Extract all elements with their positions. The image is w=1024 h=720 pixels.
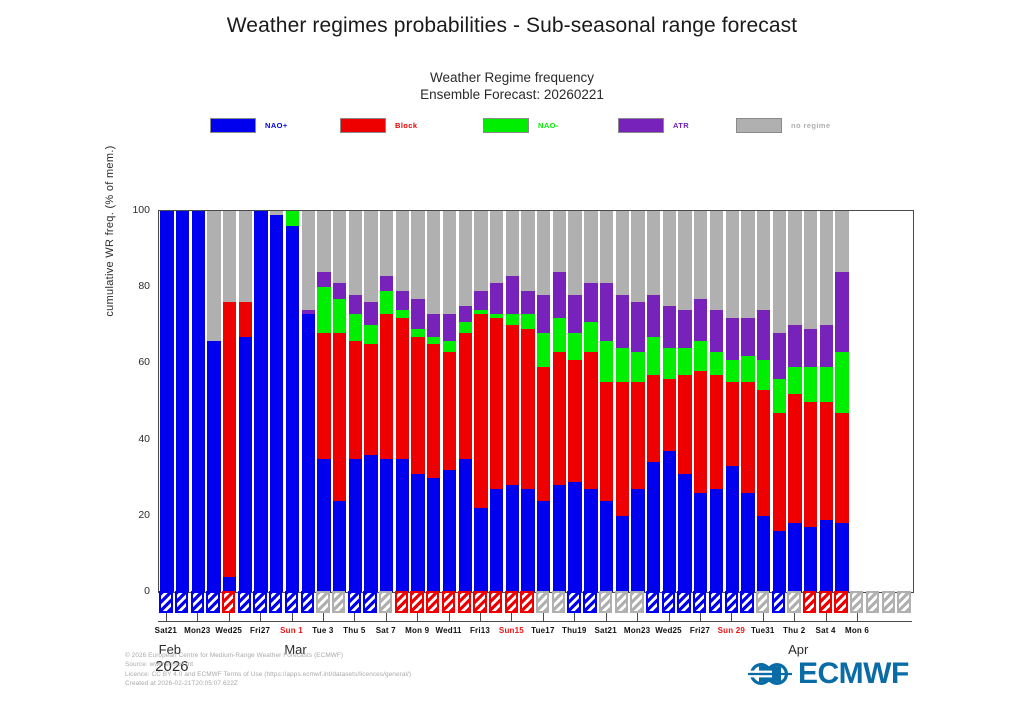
bar-column[interactable] [379,211,395,592]
regime-strip-cell[interactable] [551,591,567,613]
regime-hatch-block [473,591,486,613]
bar-stack [741,211,754,592]
bar-segment-block [804,402,817,528]
regime-hatch-nao+ [725,591,738,613]
bar-column[interactable] [253,211,269,592]
x-axis-tick-mark [197,613,198,621]
chart-title: Weather Regime frequency [0,70,1024,86]
x-axis-tick-mark [229,613,230,621]
bar-segment-atr [459,306,472,321]
x-axis-tick-mark [386,613,387,621]
bar-stack [207,211,220,592]
bar-stack [694,211,707,592]
legend-label-atr: ATR [673,121,689,130]
regime-strip-cell[interactable] [818,591,834,613]
page-title: Weather regimes probabilities - Sub-seas… [0,14,1024,38]
bar-segment-no_regime [239,211,252,302]
bar-segment-atr [396,291,409,310]
x-axis-date-label: Fri27 [690,626,710,635]
bar-segment-nao_plus [600,501,613,592]
bar-stack [568,211,581,592]
regime-hatch-nao+ [269,591,282,613]
bar-column[interactable] [316,211,332,592]
footer-line-source: Source: www.ecmwf.int [125,660,645,669]
bar-stack [333,211,346,592]
bar-column[interactable] [285,211,301,592]
bar-segment-nao_minus [349,314,362,341]
bar-segment-block [773,413,786,531]
regime-strip-cell[interactable] [692,591,708,613]
regime-hatch-nao+ [238,591,251,613]
bar-segment-block [757,390,770,516]
bar-segment-nao_minus [631,352,644,382]
bar-column[interactable] [567,211,583,592]
bar-column[interactable] [442,211,458,592]
x-axis-tick-mark [731,613,732,621]
x-axis-date-label: Thu19 [562,626,587,635]
bar-column[interactable] [897,211,913,592]
bar-stack [474,211,487,592]
bar-stack [192,211,205,592]
x-axis-tick-mark [354,613,355,621]
bar-segment-block [663,379,676,451]
bar-segment-nao_plus [741,493,754,592]
regime-hatch-block [426,591,439,613]
bar-segment-nao_plus [568,482,581,592]
bar-segment-block [537,367,550,500]
regime-strip-cell[interactable] [613,591,629,613]
regime-strip-cell[interactable] [362,591,378,613]
bar-segment-nao_minus [506,314,519,325]
bar-column[interactable] [190,211,206,592]
bar-stack [804,211,817,592]
footer-line-created: Created at 2026-02-21T20:05:07.622Z [125,679,645,688]
bar-column[interactable] [771,211,787,592]
bar-column[interactable] [426,211,442,592]
bar-segment-atr [568,295,581,333]
x-axis-date-label: Wed25 [215,626,242,635]
regime-hatch-no-regime [787,591,800,613]
bar-stack [396,211,409,592]
x-axis-date-label: Mon 6 [845,626,869,635]
legend-item-nao_minus[interactable]: NAO- [483,118,559,133]
bar-segment-block [694,371,707,493]
bar-segment-nao_plus [302,314,315,592]
bar-column[interactable] [489,211,505,592]
bar-segment-atr [616,295,629,348]
regime-strip-cell[interactable] [770,591,786,613]
x-axis-date-label: Fri13 [470,626,490,635]
regime-strip-cell[interactable] [598,591,614,613]
bar-segment-block [600,382,613,500]
regime-strip-cell[interactable] [189,591,205,613]
regime-strip-cell[interactable] [284,591,300,613]
bar-column[interactable] [520,211,536,592]
bar-column[interactable] [473,211,489,592]
bar-segment-nao_minus [726,360,739,383]
bar-segment-nao_minus [820,367,833,401]
x-axis-tick-mark [166,613,167,621]
bar-segment-nao_plus [584,489,597,592]
regime-hatch-nao+ [740,591,753,613]
bar-column[interactable] [583,211,599,592]
bar-column[interactable] [206,211,222,592]
regime-strip-cell[interactable] [865,591,881,613]
bar-segment-block [317,333,330,459]
bar-column[interactable] [363,211,379,592]
bar-stack [254,211,267,592]
regime-strip-cell[interactable] [252,591,268,613]
bar-segment-block [427,344,440,477]
legend-swatch-atr [618,118,664,133]
bar-column[interactable] [834,211,850,592]
bar-stack [349,211,362,592]
bar-segment-nao_plus [443,470,456,592]
regime-strip-cell[interactable] [739,591,755,613]
bar-segment-nao_minus [411,329,424,337]
x-axis-tick-mark [826,613,827,621]
y-axis-tick-label: 40 [110,433,150,445]
regime-strip-cell[interactable] [205,591,221,613]
regime-hatch-no-regime [630,591,643,613]
x-axis-tick-mark [417,613,418,621]
bar-segment-nao_minus [364,325,377,344]
bar-segment-no_regime [380,211,393,276]
bar-column[interactable] [693,211,709,592]
chart-legend: NAO+BlockNAO-ATRno regime [158,115,914,135]
bar-segment-nao_minus [521,314,534,329]
bar-segment-nao_plus [537,501,550,592]
x-axis-date-label: Mon 9 [405,626,429,635]
bar-stack [317,211,330,592]
bar-segment-no_regime [207,211,220,341]
bar-segment-block [820,402,833,520]
regime-strip-cell[interactable] [880,591,896,613]
bar-column[interactable] [709,211,725,592]
bar-segment-nao_minus [600,341,613,383]
x-axis-tick-mark [669,613,670,621]
x-axis-date-label: Fri27 [250,626,270,635]
bar-segment-no_regime [396,211,409,291]
bar-segment-nao_plus [773,531,786,592]
bar-column[interactable] [787,211,803,592]
regime-strip-cell[interactable] [661,591,677,613]
bar-column[interactable] [238,211,254,592]
regime-hatch-block [520,591,533,613]
x-axis-date-label: Sun 29 [718,626,745,635]
regime-strip-cell[interactable] [425,591,441,613]
x-axis-tick-mark [700,613,701,621]
bar-column[interactable] [850,211,866,592]
legend-item-no_regime[interactable]: no regime [736,118,830,133]
regime-strip-cell[interactable] [582,591,598,613]
bar-stack [584,211,597,592]
bar-segment-block [411,337,424,474]
bar-segment-nao_plus [788,523,801,592]
bar-segment-block [553,352,566,485]
bar-column[interactable] [646,211,662,592]
bar-segment-nao_plus [254,211,267,592]
ecmwf-logo: ECMWF [748,657,909,691]
legend-item-block[interactable]: Block [340,118,417,133]
regime-hatch-nao+ [677,591,690,613]
regime-strip-cell[interactable] [221,591,237,613]
x-axis-tick-mark [574,613,575,621]
bar-column[interactable] [332,211,348,592]
regime-hatch-nao+ [693,591,706,613]
bar-column[interactable] [300,211,316,592]
bar-column[interactable] [159,211,175,592]
bar-column[interactable] [662,211,678,592]
bar-column[interactable] [803,211,819,592]
bar-stack [773,211,786,592]
bar-column[interactable] [175,211,191,592]
bar-segment-nao_minus [396,310,409,318]
regime-strip-cell[interactable] [629,591,645,613]
y-axis-tick-label: 80 [110,280,150,292]
regime-strip-cell[interactable] [472,591,488,613]
bar-segment-atr [333,283,346,298]
bar-segment-block [474,314,487,508]
regime-hatch-nao+ [175,591,188,613]
x-axis-tick-mark [260,613,261,621]
bar-stack [726,211,739,592]
bar-segment-nao_minus [443,341,456,352]
bar-segment-nao_plus [490,489,503,592]
regime-strip-cell[interactable] [174,591,190,613]
footer-credits: © 2026 European Centre for Medium-Range … [125,651,645,688]
bar-column[interactable] [599,211,615,592]
bar-segment-nao_minus [647,337,660,375]
bar-segment-atr [788,325,801,367]
x-axis-date-label: Tue 3 [312,626,333,635]
footer-line-copyright: © 2026 European Centre for Medium-Range … [125,651,645,660]
bar-stack [411,211,424,592]
regime-strip-cell[interactable] [645,591,661,613]
regime-hatch-no-regime [552,591,565,613]
bar-segment-nao_minus [710,352,723,375]
bar-column[interactable] [222,211,238,592]
regime-strip-cell[interactable] [708,591,724,613]
x-axis-date-label: Tue17 [531,626,555,635]
bar-segment-nao_plus [835,523,848,592]
legend-item-atr[interactable]: ATR [618,118,689,133]
regime-strip-cell[interactable] [786,591,802,613]
bar-segment-nao_plus [459,459,472,592]
bar-stack [427,211,440,592]
regime-strip-cell[interactable] [723,591,739,613]
bar-segment-nao_minus [835,352,848,413]
bar-segment-block [223,302,236,576]
bar-segment-nao_plus [663,451,676,592]
regime-strip-cell[interactable] [441,591,457,613]
regime-strip-cell[interactable] [503,591,519,613]
bar-stack [490,211,503,592]
bar-column[interactable] [457,211,473,592]
bar-segment-no_regime [804,211,817,329]
bar-segment-no_regime [663,211,676,306]
bar-segment-no_regime [302,211,315,310]
regime-strip-cell[interactable] [896,591,912,613]
bar-segment-block [710,375,723,489]
regime-hatch-no-regime [316,591,329,613]
bar-segment-nao_minus [333,299,346,333]
bar-series-container [159,211,913,592]
regime-strip-cell[interactable] [488,591,504,613]
bar-segment-no_regime [521,211,534,291]
bar-segment-nao_minus [694,341,707,371]
bar-segment-nao_minus [741,356,754,383]
bar-segment-atr [741,318,754,356]
regime-strip-cell[interactable] [535,591,551,613]
bar-column[interactable] [677,211,693,592]
x-axis-date-label: Sat 7 [376,626,396,635]
bar-segment-nao_plus [506,485,519,592]
bar-segment-no_regime [364,211,377,302]
x-axis-date-label: Mon23 [624,626,650,635]
bar-column[interactable] [756,211,772,592]
bar-column[interactable] [819,211,835,592]
bar-segment-nao_minus [788,367,801,394]
bar-stack [631,211,644,592]
bar-column[interactable] [410,211,426,592]
bar-column[interactable] [881,211,897,592]
legend-item-nao_plus[interactable]: NAO+ [210,118,288,133]
regime-hatch-block [395,591,408,613]
bar-segment-nao_plus [364,455,377,592]
x-axis-date-label: Sun15 [499,626,524,635]
bar-column[interactable] [740,211,756,592]
bar-segment-no_regime [568,211,581,295]
y-axis-tick-label: 60 [110,356,150,368]
x-axis-tick-mark [763,613,764,621]
month-label-apr: Apr [788,642,808,657]
bar-stack [835,211,848,592]
bar-segment-nao_plus [192,211,205,592]
bar-segment-atr [443,314,456,341]
bar-segment-no_regime [349,211,362,295]
bar-stack [223,211,236,592]
regime-strip-cell[interactable] [378,591,394,613]
bar-stack [286,211,299,592]
bar-column[interactable] [504,211,520,592]
bar-stack [883,211,896,592]
bar-stack [851,211,864,592]
x-axis-date-label: Wed25 [655,626,682,635]
regime-hatch-nao+ [646,591,659,613]
regime-hatch-nao+ [191,591,204,613]
regime-strip-cell[interactable] [519,591,535,613]
regime-strip-cell[interactable] [755,591,771,613]
regime-hatch-no-regime [615,591,628,613]
regime-hatch-block [442,591,455,613]
regime-strip-cell[interactable] [802,591,818,613]
bar-column[interactable] [724,211,740,592]
regime-hatch-nao+ [709,591,722,613]
bar-segment-nao_plus [427,478,440,592]
bar-segment-nao_plus [286,226,299,592]
bar-segment-atr [506,276,519,314]
bar-segment-nao_plus [396,459,409,592]
bar-segment-nao_minus [317,287,330,333]
bar-column[interactable] [552,211,568,592]
bar-segment-no_regime [835,211,848,272]
bar-segment-no_regime [647,211,660,295]
bar-segment-atr [427,314,440,337]
regime-strip-cell[interactable] [268,591,284,613]
regime-hatch-nao+ [253,591,266,613]
bar-segment-nao_plus [631,489,644,592]
x-axis-tick-mark [606,613,607,621]
regime-strip-cell[interactable] [456,591,472,613]
regime-strip-cell[interactable] [833,591,849,613]
bar-segment-nao_plus [239,337,252,592]
regime-hatch-nao+ [285,591,298,613]
bar-stack [506,211,519,592]
bar-segment-no_regime [459,211,472,306]
x-axis-tick-mark [292,613,293,621]
bar-stack [521,211,534,592]
regime-strip-cell[interactable] [237,591,253,613]
dominant-regime-strip [158,591,912,613]
bar-segment-no_regime [616,211,629,295]
bar-column[interactable] [614,211,630,592]
x-axis-date-label: Thu 2 [783,626,805,635]
bar-stack [443,211,456,592]
regime-hatch-no-regime [599,591,612,613]
regime-strip-cell[interactable] [331,591,347,613]
regime-hatch-no-regime [866,591,879,613]
bar-segment-nao_plus [694,493,707,592]
bar-column[interactable] [630,211,646,592]
bar-segment-nao_minus [804,367,817,401]
bar-segment-atr [349,295,362,314]
bar-stack [647,211,660,592]
bar-column[interactable] [866,211,882,592]
bar-segment-block [396,318,409,459]
y-axis: 020406080100 [110,210,158,591]
bar-stack [176,211,189,592]
regime-hatch-nao+ [206,591,219,613]
bar-column[interactable] [347,211,363,592]
regime-strip-cell[interactable] [158,591,174,613]
bar-column[interactable] [395,211,411,592]
regime-strip-cell[interactable] [346,591,362,613]
regime-strip-cell[interactable] [409,591,425,613]
bar-stack [459,211,472,592]
regime-hatch-block [489,591,502,613]
regime-strip-cell[interactable] [315,591,331,613]
regime-hatch-no-regime [897,591,910,613]
regime-strip-cell[interactable] [299,591,315,613]
bar-segment-atr [647,295,660,337]
bar-segment-no_regime [710,211,723,310]
regime-strip-cell[interactable] [566,591,582,613]
regime-strip-cell[interactable] [849,591,865,613]
regime-strip-cell[interactable] [394,591,410,613]
regime-hatch-block [803,591,816,613]
regime-hatch-block [222,591,235,613]
bar-column[interactable] [269,211,285,592]
bar-segment-nao_plus [616,516,629,592]
bar-segment-block [678,375,691,474]
bar-segment-no_regime [694,211,707,299]
bar-column[interactable] [536,211,552,592]
regime-strip-cell[interactable] [676,591,692,613]
bar-segment-atr [490,283,503,313]
bar-segment-nao_minus [584,322,597,352]
bar-segment-nao_plus [757,516,770,592]
